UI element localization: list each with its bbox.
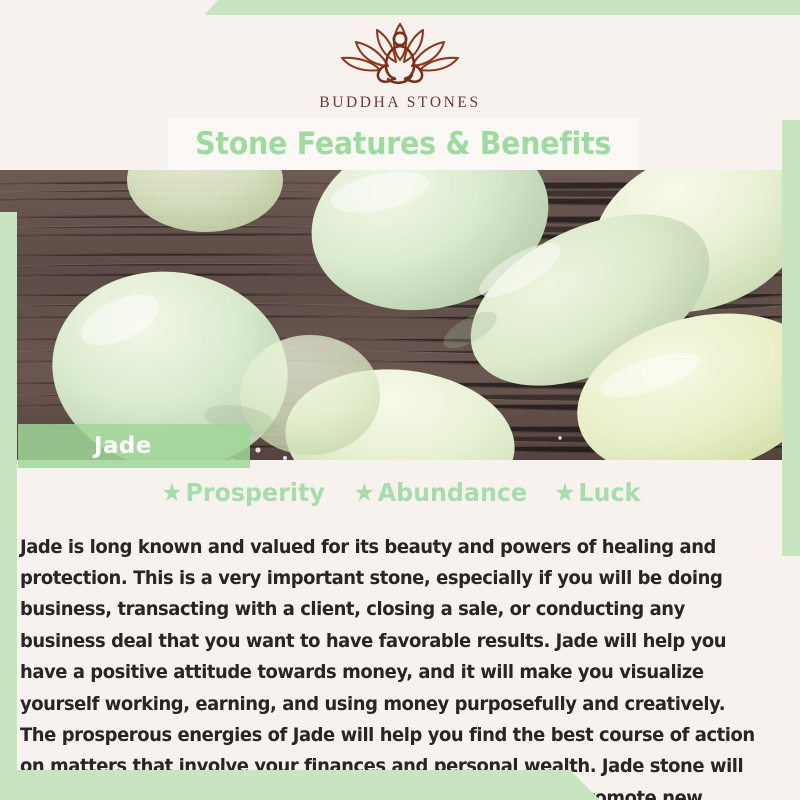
lotus-meditation-icon: [334, 16, 466, 90]
brand-name: BUDDHA STONES: [0, 94, 800, 112]
benefit-label: Prosperity: [186, 478, 325, 507]
benefit-item: ★Luck: [554, 478, 640, 507]
star-icon: ★: [354, 478, 375, 507]
benefit-item: ★Prosperity: [162, 478, 326, 507]
frame-left-bar: [0, 212, 17, 800]
benefit-label: Abundance: [378, 478, 527, 507]
content-area: ★Prosperity★Abundance★Luck Jade is long …: [0, 460, 800, 800]
page-title: Stone Features & Benefits: [195, 126, 611, 162]
benefit-label: Luck: [578, 478, 640, 507]
stone-description: Jade is long known and valued for its be…: [20, 532, 761, 800]
star-icon: ★: [554, 478, 575, 507]
jade-stones-photo: [0, 170, 800, 460]
brand-logo: BUDDHA STONES: [0, 16, 800, 112]
benefit-item: ★Abundance: [354, 478, 527, 507]
star-icon: ★: [162, 478, 183, 507]
poster-card: BUDDHA STONES Stone Features & Benefits …: [0, 0, 800, 800]
stone-name-label: Jade: [94, 433, 152, 459]
stone-name-badge: Jade: [18, 424, 250, 468]
benefits-list: ★Prosperity★Abundance★Luck: [0, 478, 800, 507]
title-banner: Stone Features & Benefits: [168, 118, 638, 170]
